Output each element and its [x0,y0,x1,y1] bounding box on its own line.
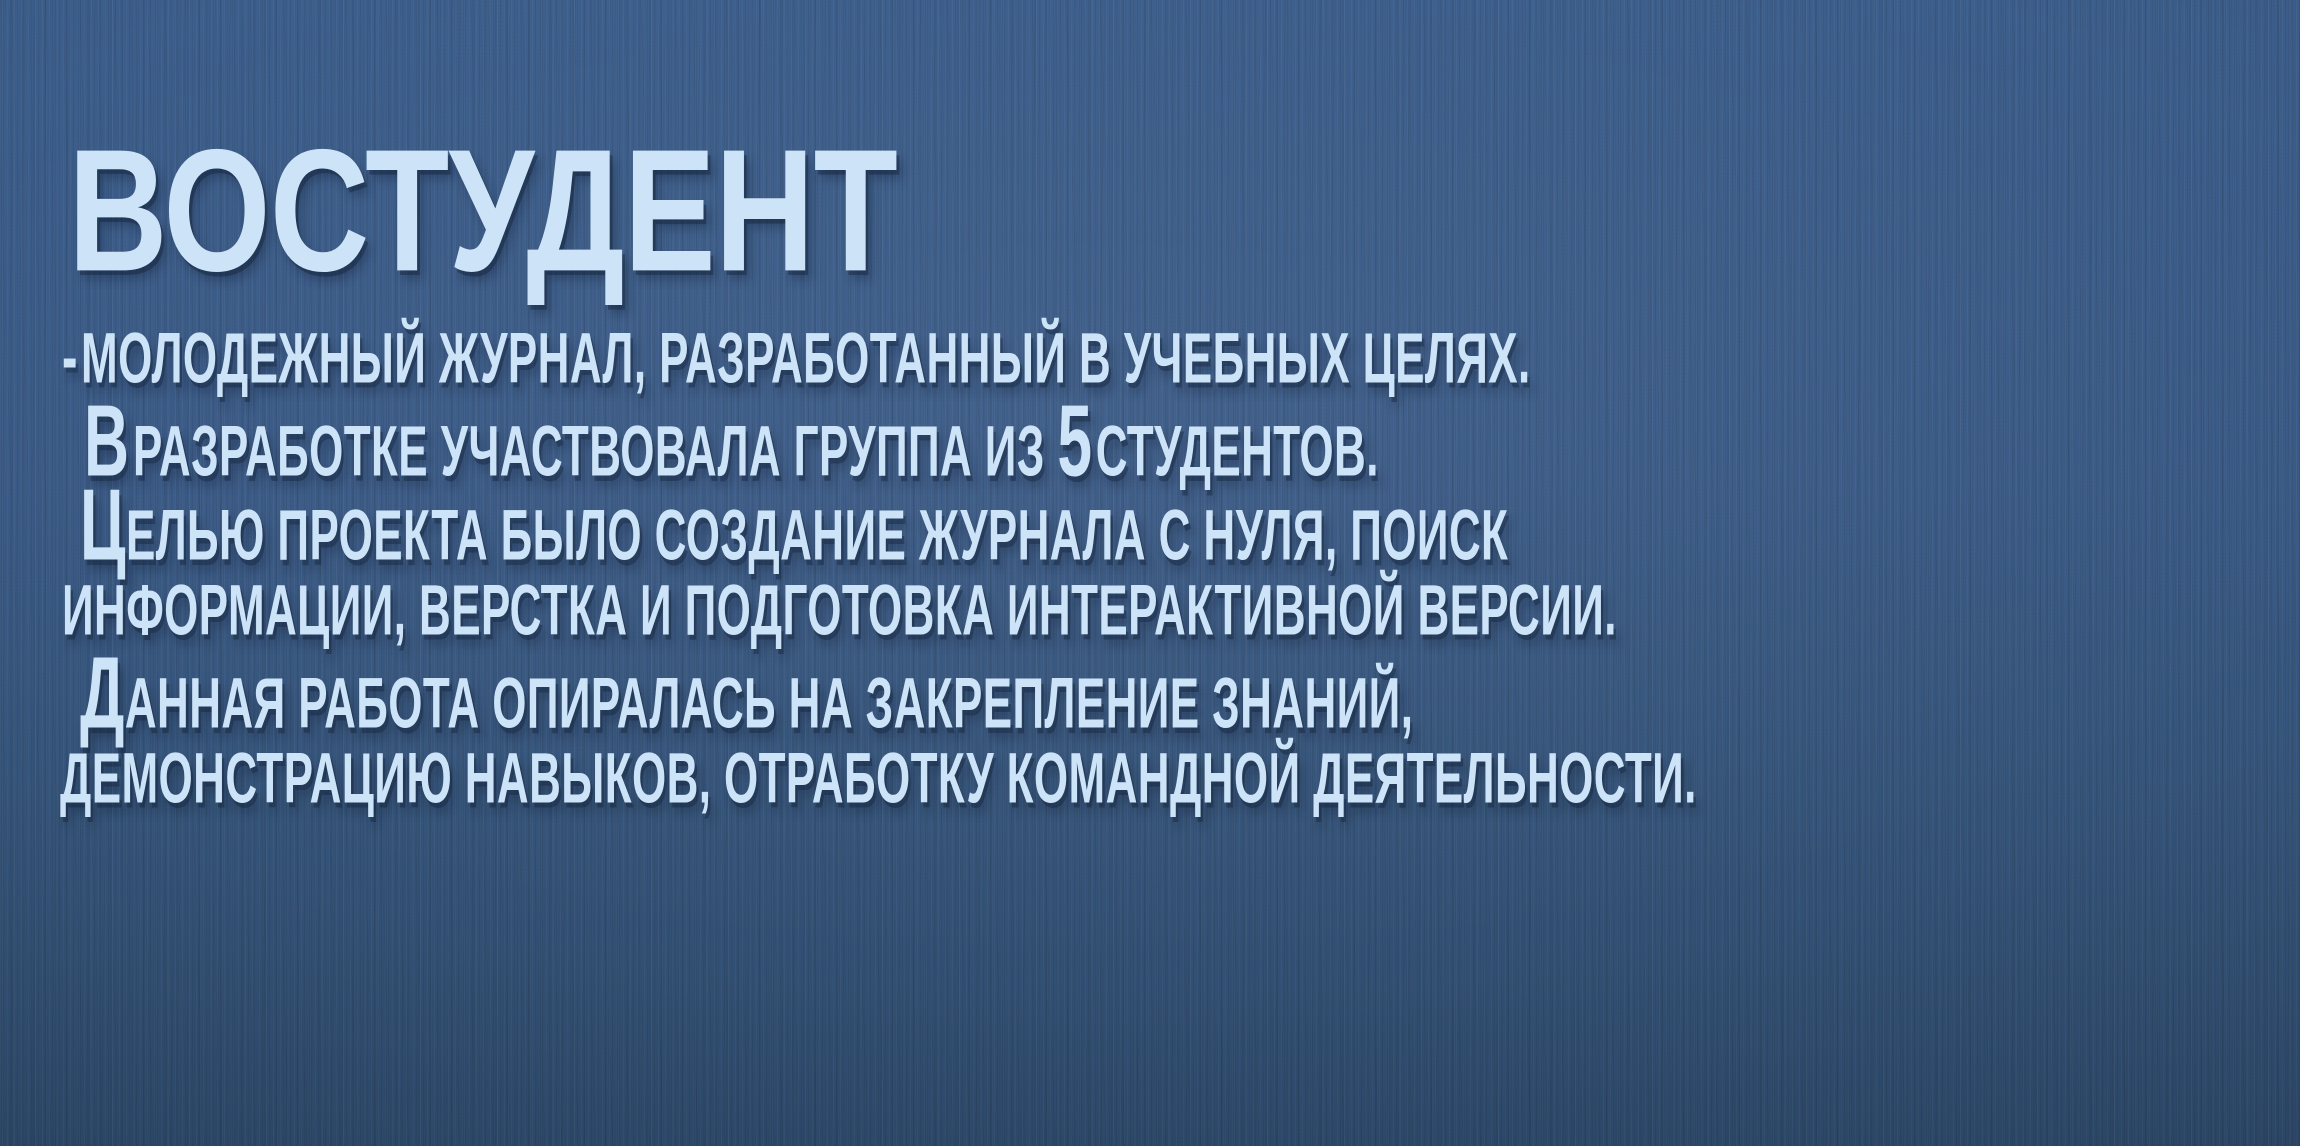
description-line-6: ДЕМОНСТРАЦИЮ НАВЫКОВ, ОТРАБОТКУ КОМАНДНО… [0,738,2300,822]
page-title: ВОСТУДЕНТ [68,123,897,297]
description-block: - МОЛОДЕЖНЫЙ ЖУРНАЛ, РАЗРАБОТАННЫЙ В УЧЕ… [0,318,2300,822]
poster-canvas: ВОСТУДЕНТ - МОЛОДЕЖНЫЙ ЖУРНАЛ, РАЗРАБОТА… [0,0,2300,1146]
description-line-6-text: ДЕМОНСТРАЦИЮ НАВЫКОВ, ОТРАБОТКУ КОМАНДНО… [60,737,1697,818]
bullet-dash: - [62,315,77,399]
